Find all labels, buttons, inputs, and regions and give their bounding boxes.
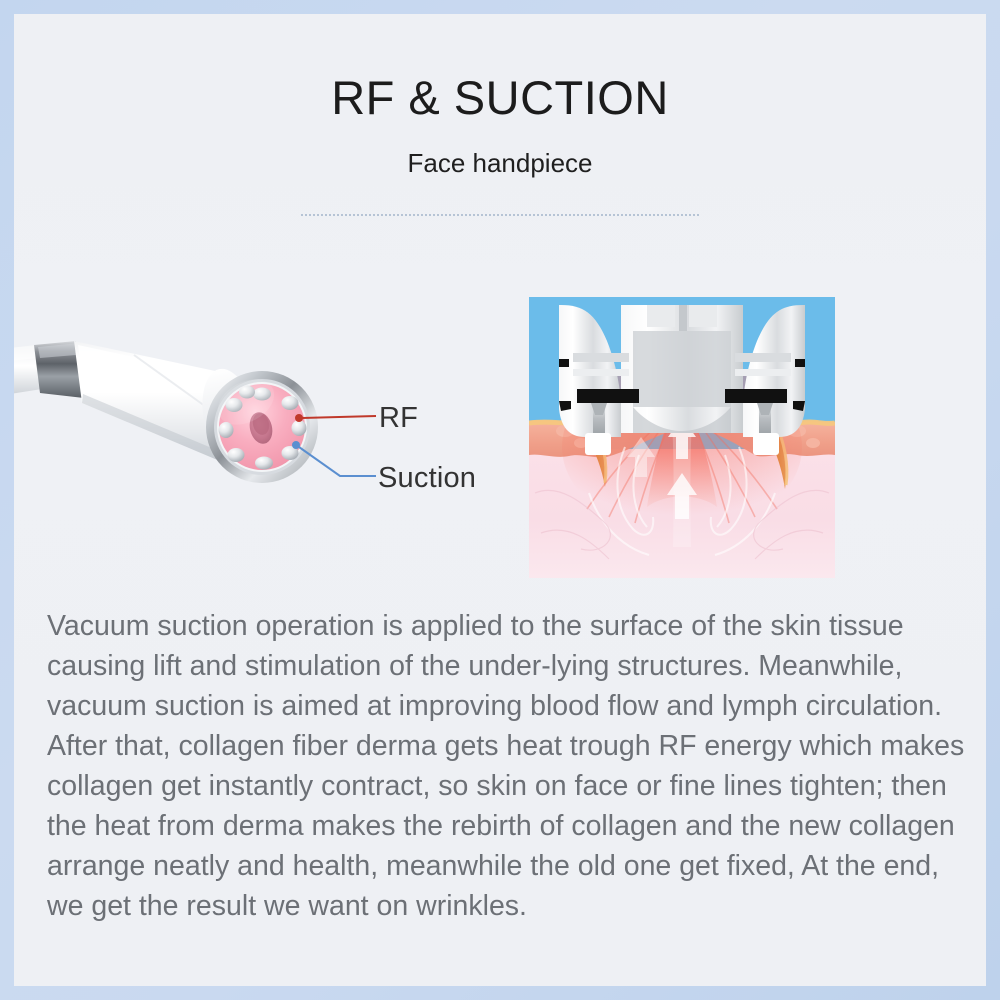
callout-label-rf: RF [379,404,418,433]
page-title: RF & SUCTION [14,74,986,121]
skin-diagram-svg [529,297,835,578]
description-paragraph: Vacuum suction operation is applied to t… [47,606,967,926]
rf-leader [295,414,376,422]
skin-cross-section-diagram [529,297,835,578]
callout-leaders [274,394,394,504]
infographic-frame: RF & SUCTION Face handpiece [0,0,1000,1000]
page-subtitle: Face handpiece [14,150,986,176]
device-head-cross-section [559,305,805,455]
dotted-divider [300,214,700,216]
callout-label-suction: Suction [378,464,476,493]
content-panel: RF & SUCTION Face handpiece [14,14,986,986]
rf-electrode-bar-left [577,389,639,403]
rf-electrode-bar-right [725,389,787,403]
suction-leader [292,441,376,476]
